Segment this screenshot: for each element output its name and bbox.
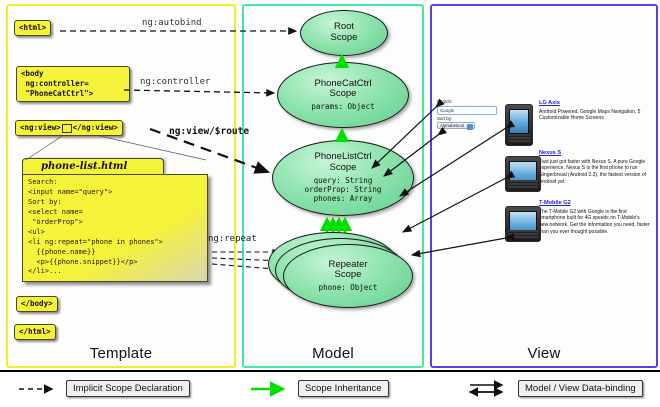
scope-phonelistctrl: PhoneListCtrlScope query: String orderPr…: [272, 140, 414, 216]
scope-phonelistctrl-props: query: String orderProp: String phones: …: [305, 176, 382, 204]
legend-item-implicit: Implicit Scope Declaration: [18, 380, 190, 397]
phone-snippet: Fast just got faster with Nexus S. A pur…: [539, 159, 650, 185]
callout-phone-list-html: phone-list.html Search: <input name="que…: [22, 158, 208, 282]
phone-thumbnail-icon: [505, 206, 541, 242]
view-search-form: Search: Google Sort by: Alphabetical: [437, 99, 497, 129]
edge-label-ng-view-route: ng:view/$route: [169, 126, 249, 137]
tag-html-close: </html>: [14, 324, 56, 340]
scope-phonecatctrl-props: params: Object: [311, 102, 374, 111]
legend-item-inheritance: Scope Inheritance: [250, 380, 389, 397]
sort-select-value: Alphabetical: [440, 123, 464, 128]
scope-phonecatctrl: PhoneCatCtrlScope params: Object: [277, 62, 409, 128]
list-item[interactable]: LG Axis Android Powered, Google Maps Nav…: [505, 100, 650, 147]
tag-body-open: <body ng:controller= "PhoneCatCtrl">: [16, 66, 130, 102]
chevron-down-icon: [467, 124, 473, 130]
scope-root-name: RootScope: [331, 22, 358, 43]
phone-snippet: The T-Mobile G2 with Google is the first…: [539, 209, 650, 235]
list-item[interactable]: T-Mobile G2 The T-Mobile G2 with Google …: [505, 200, 650, 247]
ngview-placeholder-icon: [62, 124, 72, 133]
legend-label-implicit: Implicit Scope Declaration: [66, 380, 190, 397]
edge-label-ng-controller: ng:controller: [140, 77, 210, 87]
tag-ngview: <ng:view></ng:view>: [15, 120, 123, 136]
callout-code: Search: <input name="query"> Sort by: <s…: [22, 174, 208, 282]
search-label: Search:: [437, 99, 497, 106]
edge-label-ng-autobind: ng:autobind: [142, 18, 202, 28]
view-phone-list: LG Axis Android Powered, Google Maps Nav…: [505, 100, 650, 250]
scope-repeater-name: RepeaterScope: [328, 260, 367, 281]
legend-label-inheritance: Scope Inheritance: [298, 380, 389, 397]
phone-thumbnail-icon: [505, 104, 533, 146]
callout-title: phone-list.html: [22, 158, 164, 174]
legend: Implicit Scope Declaration Scope Inherit…: [0, 370, 660, 407]
panel-view-title: View: [432, 345, 656, 362]
search-input[interactable]: Google: [437, 106, 497, 115]
scope-repeater-props: phone: Object: [319, 283, 378, 292]
double-arrow-icon: [468, 381, 512, 397]
phone-name-link[interactable]: Nexus S: [539, 150, 650, 158]
tag-body-close: </body>: [16, 296, 58, 312]
legend-label-databinding: Model / View Data-binding: [518, 380, 643, 397]
tag-ngview-suffix: </ng:view>: [73, 123, 118, 132]
list-item[interactable]: Nexus S Fast just got faster with Nexus …: [505, 150, 650, 197]
phone-snippet: Android Powered, Google Maps Navigation,…: [539, 109, 650, 122]
dashed-arrow-icon: [18, 383, 60, 395]
phone-thumbnail-icon: [505, 156, 541, 192]
diagram-canvas: Template Model View <html> <body ng:cont…: [0, 0, 660, 405]
panel-model-title: Model: [244, 345, 422, 362]
sort-select[interactable]: Alphabetical: [437, 122, 475, 129]
phone-name-link[interactable]: LG Axis: [539, 100, 650, 108]
legend-item-databinding: Model / View Data-binding: [468, 380, 643, 397]
tag-ngview-prefix: <ng:view>: [20, 123, 61, 132]
tag-html-open: <html>: [14, 20, 51, 36]
phone-name-link[interactable]: T-Mobile G2: [539, 200, 650, 208]
scope-phonecatctrl-name: PhoneCatCtrlScope: [314, 79, 371, 100]
panel-template-title: Template: [8, 345, 234, 362]
scope-root: RootScope: [300, 10, 388, 56]
edge-label-ng-repeat: ng:repeat: [208, 234, 257, 244]
solid-arrow-icon: [250, 383, 292, 395]
scope-phonelistctrl-name: PhoneListCtrlScope: [314, 152, 371, 173]
scope-repeater: RepeaterScope phone: Object: [283, 244, 413, 308]
sort-label: Sort by:: [437, 116, 497, 123]
